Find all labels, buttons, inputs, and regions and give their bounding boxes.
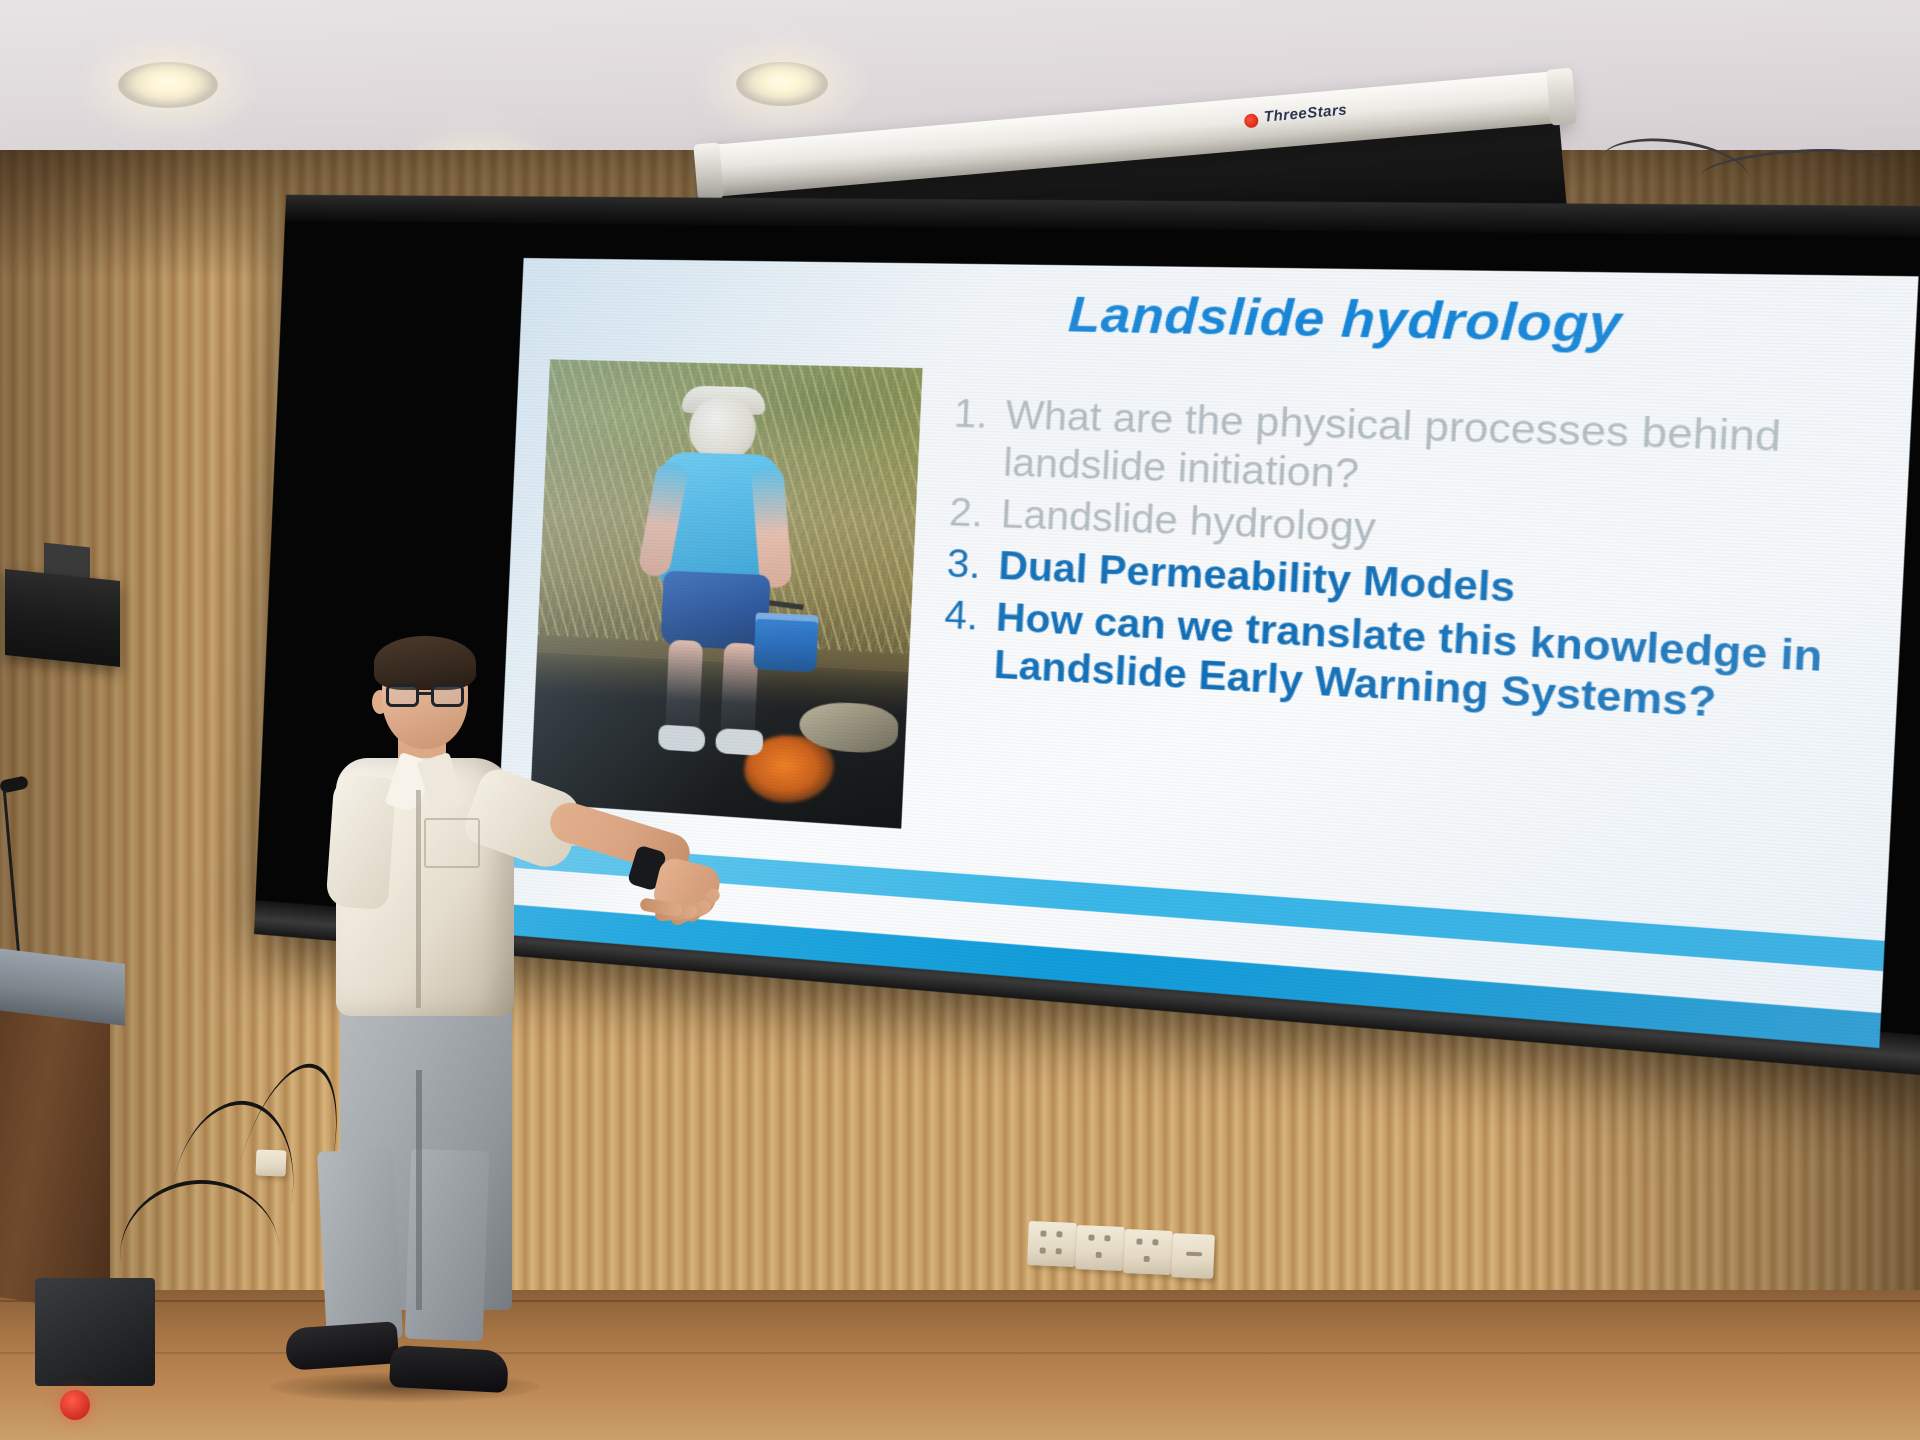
wall-outlet-3[interactable] [1123,1229,1173,1275]
outlet-pin [1152,1239,1158,1245]
photo-person-boot-right [715,728,763,756]
wall-outlet-2[interactable] [1075,1225,1125,1271]
outlet-pin [1144,1256,1150,1262]
glasses-lens-left [386,684,419,707]
photo-person-boot-left [658,724,706,752]
photo-blue-bucket [753,612,818,672]
threestars-logo-icon [1244,113,1259,128]
presentation-slide[interactable]: Landslide hydrology [494,258,1919,1048]
podium-body [0,995,110,1314]
floor [0,1290,1920,1440]
outlet-pin [1088,1234,1094,1240]
outlet-pin [1056,1248,1062,1254]
projector-screen-brand-label: ThreeStars [1263,101,1348,125]
housing-end-cap-right [1546,68,1577,126]
list-item-number: 1. [953,390,1007,439]
housing-end-cap-left [693,142,724,200]
list-item-number: 4. [944,591,998,641]
photo-person-head [688,396,757,461]
slide-photo-field-researcher [530,359,922,828]
outlet-pin [1136,1238,1142,1244]
outlet-pin [1040,1247,1046,1253]
presenter-hair [374,636,476,690]
list-item-number: 2. [948,489,1002,538]
floor-seam-1 [0,1300,1920,1302]
presenter-sleeve-left [325,774,396,910]
presenter-glasses-icon [386,684,468,708]
presenter-shirt-placket [416,790,421,1008]
list-item-number: 3. [946,540,1000,589]
ceiling-light-2 [736,62,828,106]
presenter-leg-left [317,1148,403,1342]
wall-outlet-4[interactable] [1171,1233,1215,1279]
emergency-button-icon[interactable] [60,1390,90,1420]
outlet-pin [1040,1230,1046,1236]
presenter-trouser-seam [416,1070,422,1310]
outlet-pin [1104,1235,1110,1241]
presenter-shirt-pocket [424,818,480,868]
glasses-lens-right [431,684,464,707]
photo-person-leg-left [665,640,703,738]
outlet-pin [1186,1252,1202,1257]
wall-outlet-1[interactable] [1027,1221,1077,1267]
slide-numbered-list: 1. What are the physical processes behin… [941,390,1882,740]
outlet-pin [1096,1252,1102,1258]
ceiling-light-1 [118,62,218,108]
slide-title: Landslide hydrology [1067,285,1623,355]
floor-equipment-box [35,1278,155,1386]
ceiling-speaker-icon [5,569,120,667]
presenter-shoe-right [389,1345,509,1393]
lecture-hall-photo: ThreeStars Landslide hydrology [0,0,1920,1440]
glasses-bridge [419,692,431,695]
list-item-text: Landslide hydrology [1000,490,1377,552]
outlet-pin [1056,1231,1062,1237]
presenter-shoe-left [285,1321,400,1371]
